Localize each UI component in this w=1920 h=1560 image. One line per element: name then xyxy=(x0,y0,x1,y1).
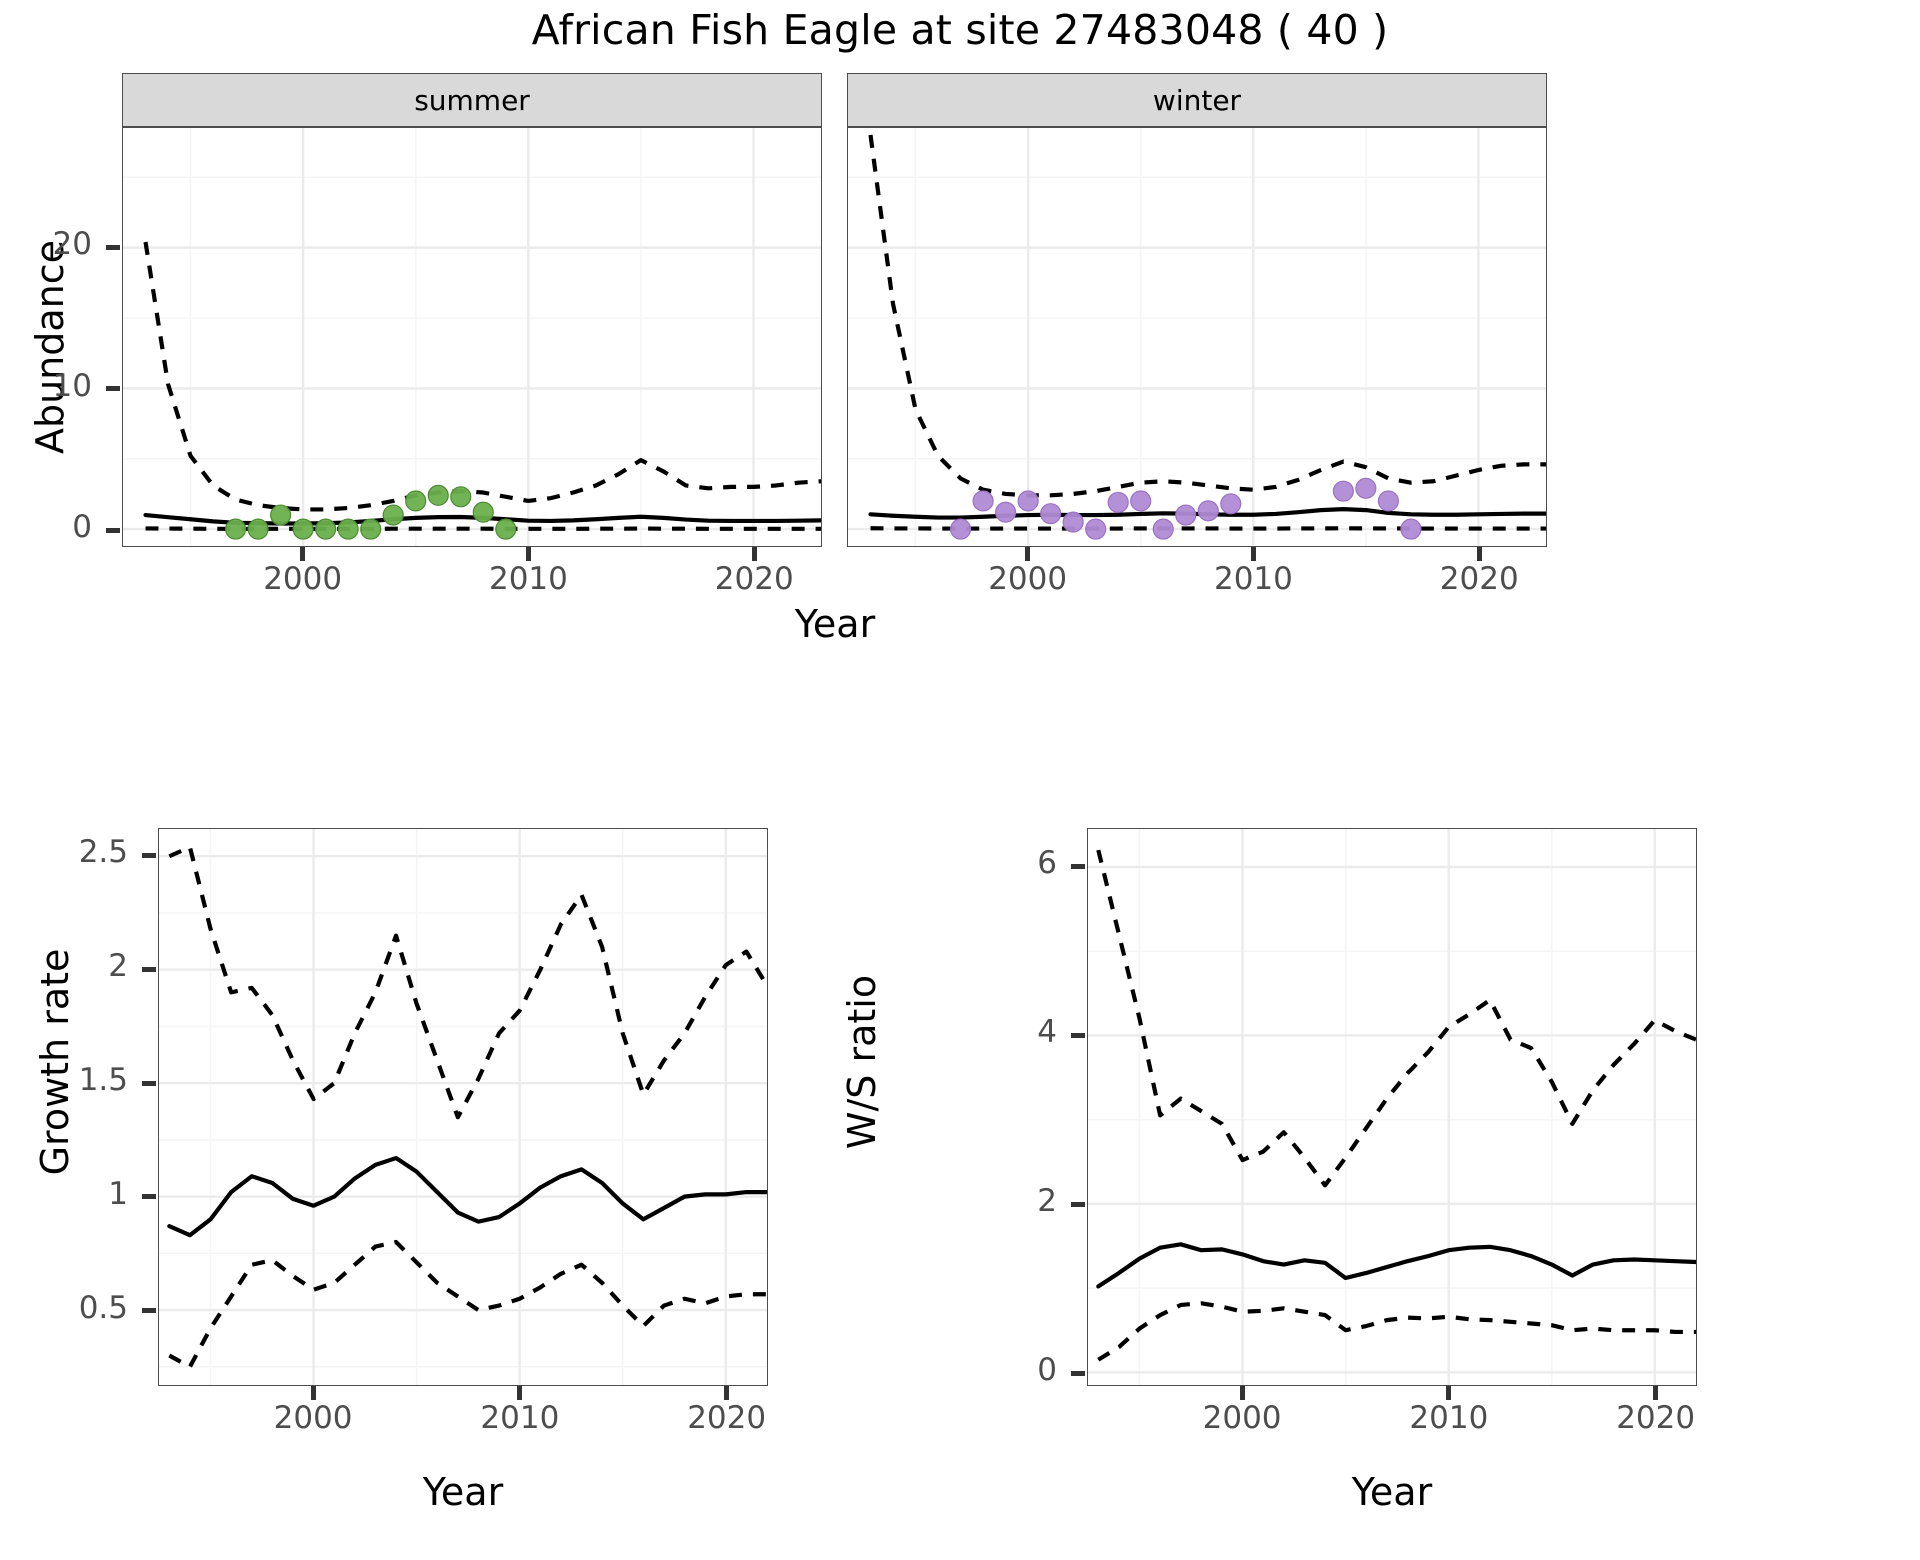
x-tick-label: 2010 xyxy=(440,1400,600,1436)
facet-strip-winter-label: winter xyxy=(1153,84,1241,117)
facet-strip-winter: winter xyxy=(847,73,1547,127)
x-tick-label: 2020 xyxy=(1576,1400,1736,1436)
x-tick-label: 2000 xyxy=(948,561,1108,597)
y-tick-label: 0 xyxy=(0,509,92,545)
y-tick-label: 2.5 xyxy=(0,834,128,870)
y-tick-label: 10 xyxy=(0,368,92,404)
y-tick-label: 4 xyxy=(867,1014,1057,1050)
chart-root: African Fish Eagle at site 27483048 ( 40… xyxy=(0,0,1920,1560)
x-tick-mark xyxy=(1446,1386,1451,1400)
y-tick-label: 0.5 xyxy=(0,1290,128,1326)
abundance-winter-panel xyxy=(847,127,1547,547)
facet-strip-summer: summer xyxy=(122,73,822,127)
x-tick-label: 2000 xyxy=(233,1400,393,1436)
abundance-summer-panel xyxy=(122,127,822,547)
y-tick-label: 20 xyxy=(0,226,92,262)
y-tick-label: 0 xyxy=(867,1352,1057,1388)
x-tick-mark xyxy=(1251,547,1256,561)
page-title: African Fish Eagle at site 27483048 ( 40… xyxy=(0,6,1920,54)
ws-y-axis-label: W/S ratio xyxy=(840,897,884,1227)
growth-x-axis-label: Year xyxy=(188,1470,738,1514)
x-tick-label: 2010 xyxy=(1369,1400,1529,1436)
x-tick-label: 2020 xyxy=(674,561,834,597)
ws-x-axis-label: Year xyxy=(1117,1470,1667,1514)
x-tick-label: 2010 xyxy=(448,561,608,597)
x-tick-mark xyxy=(311,1386,316,1400)
x-tick-mark xyxy=(1653,1386,1658,1400)
facet-strip-summer-label: summer xyxy=(414,84,530,117)
y-tick-label: 1 xyxy=(0,1176,128,1212)
abundance-x-axis-label: Year xyxy=(560,602,1110,646)
x-tick-label: 2000 xyxy=(223,561,383,597)
ws-ratio-panel xyxy=(1087,828,1697,1386)
x-tick-label: 2020 xyxy=(647,1400,807,1436)
y-tick-label: 1.5 xyxy=(0,1062,128,1098)
ws-ratio-plot xyxy=(1088,829,1696,1385)
abundance-summer-plot xyxy=(123,128,821,546)
y-tick-label: 2 xyxy=(0,948,128,984)
x-tick-mark xyxy=(1477,547,1482,561)
y-tick-mark xyxy=(1071,864,1085,869)
x-tick-mark xyxy=(1025,547,1030,561)
y-tick-mark xyxy=(142,853,156,858)
y-tick-label: 6 xyxy=(867,845,1057,881)
x-tick-label: 2020 xyxy=(1399,561,1559,597)
growth-rate-plot xyxy=(159,829,767,1385)
y-tick-mark xyxy=(106,386,120,391)
x-tick-mark xyxy=(752,547,757,561)
y-tick-label: 2 xyxy=(867,1183,1057,1219)
y-tick-mark xyxy=(1071,1371,1085,1376)
y-tick-mark xyxy=(106,245,120,250)
x-tick-mark xyxy=(526,547,531,561)
x-tick-label: 2010 xyxy=(1173,561,1333,597)
x-tick-mark xyxy=(1240,1386,1245,1400)
x-tick-mark xyxy=(517,1386,522,1400)
y-tick-mark xyxy=(1071,1033,1085,1038)
y-tick-mark xyxy=(142,1308,156,1313)
x-tick-mark xyxy=(724,1386,729,1400)
y-tick-mark xyxy=(142,1081,156,1086)
x-tick-mark xyxy=(300,547,305,561)
y-tick-mark xyxy=(142,1194,156,1199)
y-tick-mark xyxy=(106,528,120,533)
growth-rate-panel xyxy=(158,828,768,1386)
abundance-winter-plot xyxy=(848,128,1546,546)
y-tick-mark xyxy=(142,967,156,972)
x-tick-label: 2000 xyxy=(1162,1400,1322,1436)
y-tick-mark xyxy=(1071,1202,1085,1207)
